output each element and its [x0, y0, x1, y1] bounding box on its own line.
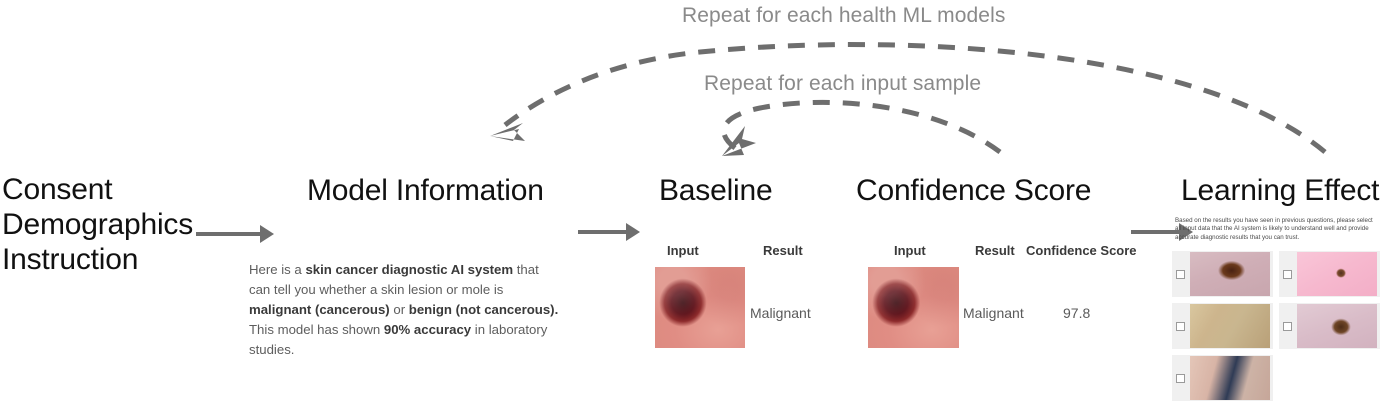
- baseline-input-image: [655, 267, 745, 348]
- confidence-score-value: 97.8: [1063, 305, 1090, 321]
- model-info-run-7: 90% accuracy: [384, 322, 471, 337]
- feedback-loop-arrows: [0, 0, 1380, 200]
- learning-effect-option[interactable]: [1172, 251, 1273, 297]
- learning-effect-option[interactable]: [1279, 251, 1380, 297]
- confidence-input-image: [868, 267, 959, 348]
- consent-line-2: Demographics: [2, 207, 193, 242]
- checkbox-icon[interactable]: [1176, 270, 1185, 279]
- loop-label-models: Repeat for each health ML models: [682, 4, 1005, 28]
- stage-title-confidence-score: Confidence Score: [856, 174, 1091, 208]
- confidence-result-value: Malignant: [963, 305, 1024, 321]
- learning-effect-option[interactable]: [1279, 303, 1380, 349]
- learning-effect-option[interactable]: [1172, 303, 1273, 349]
- checkbox-icon[interactable]: [1176, 374, 1185, 383]
- learning-effect-panel: Based on the results you have seen in pr…: [1172, 217, 1380, 403]
- column-header-confidence-score: Confidence Score: [1026, 243, 1137, 258]
- option-thumbnail-image: [1190, 356, 1270, 400]
- step-arrow-consent-to-model: [196, 224, 274, 244]
- model-info-run-4: or: [390, 302, 409, 317]
- confidence-result-panel: Input Result Confidence Score Malignant …: [850, 243, 1130, 358]
- consent-line-1: Consent: [2, 172, 193, 207]
- column-header-result: Result: [975, 243, 1015, 258]
- column-header-input: Input: [894, 243, 926, 258]
- model-info-run-3: malignant (cancerous): [249, 302, 390, 317]
- step-arrow-model-to-baseline: [578, 222, 640, 242]
- model-information-paragraph: Here is a skin cancer diagnostic AI syst…: [249, 260, 561, 360]
- stage-title-consent: Consent Demographics Instruction: [2, 172, 193, 277]
- inner-loop-arrowhead: [722, 126, 756, 156]
- checkbox-icon[interactable]: [1283, 322, 1292, 331]
- baseline-result-panel: Input Result Malignant: [640, 243, 846, 358]
- arrow-head: [626, 223, 640, 241]
- outer-loop-path: [505, 45, 1325, 152]
- option-thumbnail-image: [1297, 304, 1377, 348]
- checkbox-icon[interactable]: [1176, 322, 1185, 331]
- model-info-run-0: Here is a: [249, 262, 305, 277]
- option-thumbnail-image: [1190, 252, 1270, 296]
- arrow-shaft: [578, 230, 626, 234]
- column-header-result: Result: [763, 243, 803, 258]
- stage-title-learning-effect: Learning Effect: [1181, 174, 1379, 208]
- outer-loop-arrowhead: [490, 123, 525, 141]
- checkbox-icon[interactable]: [1283, 270, 1292, 279]
- arrow-head: [260, 225, 274, 243]
- inner-loop-path: [724, 102, 1000, 152]
- learning-effect-option-grid: [1172, 251, 1380, 401]
- loop-label-samples: Repeat for each input sample: [704, 72, 981, 96]
- model-info-run-6: This model has shown: [249, 322, 384, 337]
- learning-effect-prompt: Based on the results you have seen in pr…: [1175, 217, 1380, 242]
- consent-line-3: Instruction: [2, 242, 193, 277]
- baseline-result-value: Malignant: [750, 305, 811, 321]
- arrow-shaft: [196, 232, 260, 236]
- option-thumbnail-image: [1297, 252, 1377, 296]
- model-info-run-5: benign (not cancerous).: [409, 302, 558, 317]
- option-thumbnail-image: [1190, 304, 1270, 348]
- stage-title-baseline: Baseline: [659, 174, 772, 208]
- stage-title-model-information: Model Information: [307, 174, 544, 208]
- column-header-input: Input: [667, 243, 699, 258]
- model-info-run-1: skin cancer diagnostic AI system: [305, 262, 513, 277]
- learning-effect-option[interactable]: [1172, 355, 1273, 401]
- figure-canvas: Repeat for each health ML models Repeat …: [0, 0, 1380, 420]
